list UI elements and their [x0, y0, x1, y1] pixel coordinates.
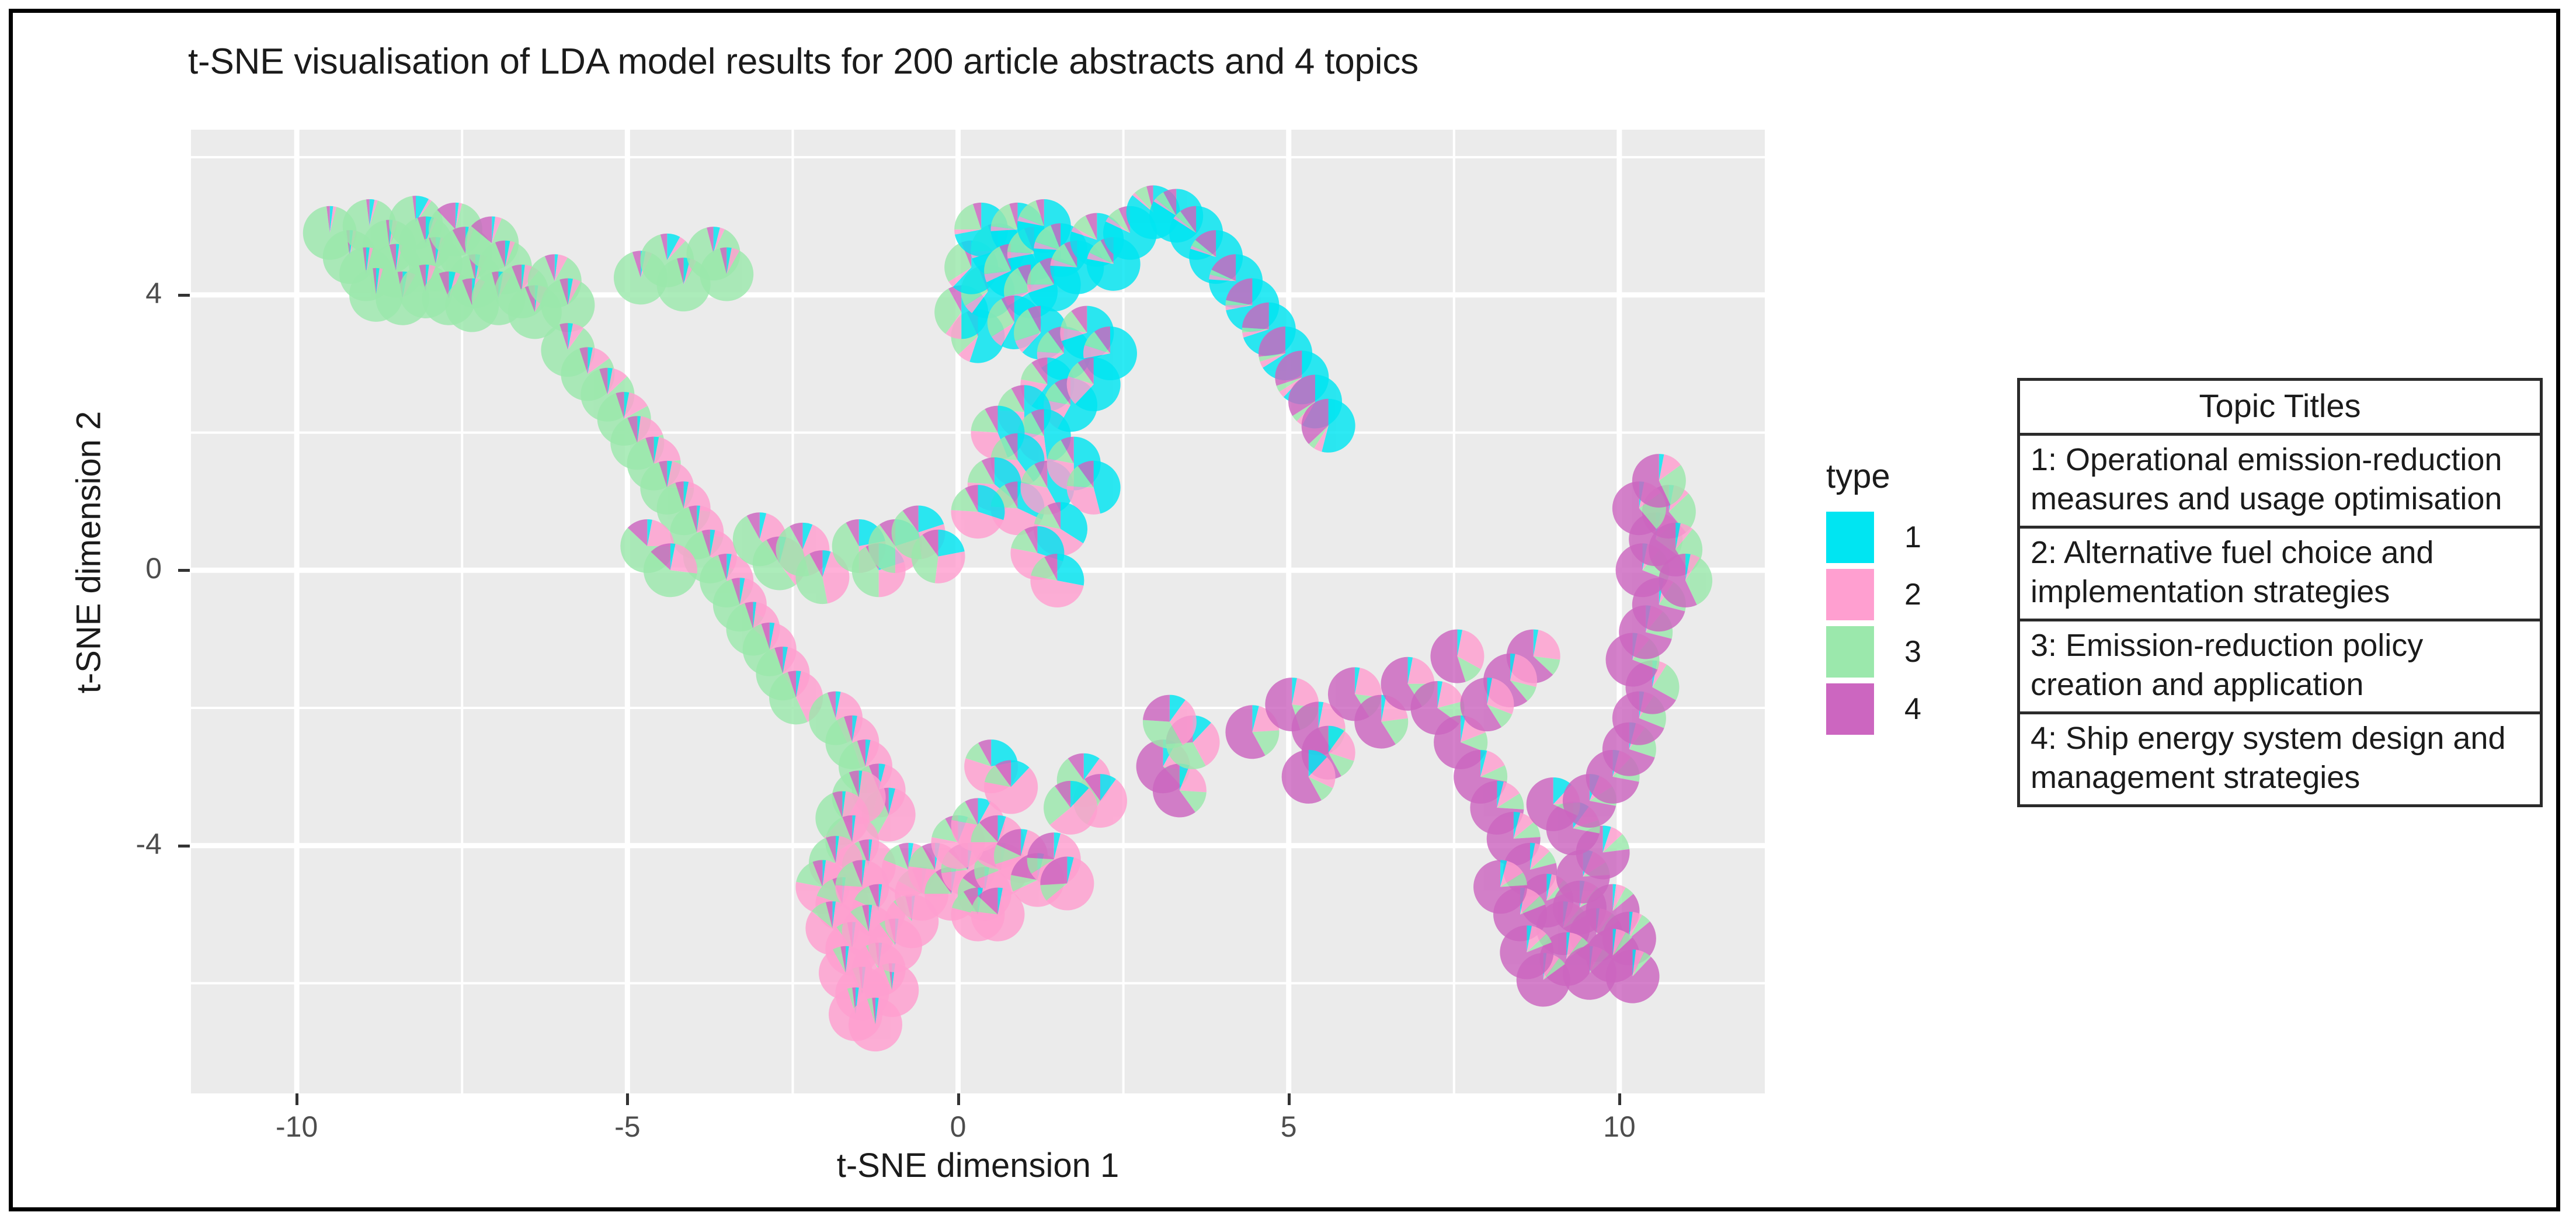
legend-swatch-1 — [1826, 512, 1874, 563]
topic-title-row: 2: Alternative fuel choice and implement… — [2020, 529, 2540, 621]
scatter-pie-point — [1040, 857, 1094, 911]
scatter-pie-point — [951, 485, 1005, 539]
scatter-pie-point — [1460, 678, 1514, 731]
scatter-pie-point — [644, 543, 697, 597]
scatter-pie-point — [1143, 695, 1197, 749]
legend-item-2[interactable]: 2 — [1797, 566, 1990, 623]
topic-title-row: 4: Ship energy system design and managem… — [2020, 714, 2540, 804]
scatter-pie-point — [1044, 781, 1097, 835]
legend-title: type — [1826, 457, 1990, 496]
x-tick-label: 0 — [900, 1110, 1017, 1144]
x-tick-mark — [1618, 1093, 1621, 1105]
legend-items: 1234 — [1797, 509, 1990, 738]
legend-item-4[interactable]: 4 — [1797, 680, 1990, 738]
topic-titles-header: Topic Titles — [2020, 381, 2540, 436]
scatter-pie-point — [1500, 925, 1553, 979]
x-tick-mark — [296, 1093, 298, 1105]
scatter-pie-point — [1302, 399, 1355, 453]
legend-item-1[interactable]: 1 — [1797, 509, 1990, 566]
topic-titles-body: 1: Operational emission-reduction measur… — [2020, 436, 2540, 804]
y-tick-mark — [178, 569, 190, 572]
x-tick-label: 10 — [1561, 1110, 1678, 1144]
legend-key-label: 4 — [1904, 692, 1921, 727]
scatter-pie-point — [1153, 763, 1207, 817]
legend-swatch-3 — [1826, 626, 1874, 678]
legend-key-label: 3 — [1904, 634, 1921, 669]
chart-title: t-SNE visualisation of LDA model results… — [188, 41, 1419, 82]
y-tick-mark — [178, 294, 190, 297]
legend-item-3[interactable]: 3 — [1797, 623, 1990, 680]
x-tick-label: 5 — [1230, 1110, 1347, 1144]
x-tick-mark — [626, 1093, 629, 1105]
topic-title-row: 1: Operational emission-reduction measur… — [2020, 436, 2540, 529]
plot-panel — [191, 130, 1765, 1093]
scatter-pie-point — [984, 760, 1038, 814]
scatter-pie-point — [1030, 554, 1084, 607]
scatter-pie-layer — [191, 130, 1765, 1093]
topic-titles-table: Topic Titles 1: Operational emission-red… — [2017, 378, 2543, 807]
legend: type 1234 — [1797, 457, 1990, 738]
figure-container: t-SNE visualisation of LDA model results… — [9, 9, 2560, 1211]
scatter-pie-point — [1659, 554, 1712, 607]
scatter-pie-point — [912, 530, 965, 584]
scatter-pie-point — [1430, 630, 1484, 683]
scatter-pie-point — [1282, 750, 1336, 804]
topic-title-row: 3: Emission-reduction policy creation an… — [2020, 621, 2540, 714]
x-tick-label: -10 — [238, 1110, 355, 1144]
legend-key-label: 1 — [1904, 520, 1921, 555]
scatter-pie-point — [1632, 454, 1686, 508]
x-tick-mark — [1288, 1093, 1291, 1105]
scatter-pie-point — [1473, 860, 1527, 914]
legend-swatch-4 — [1826, 683, 1874, 735]
x-tick-label: -5 — [569, 1110, 686, 1144]
x-tick-mark — [957, 1093, 960, 1105]
scatter-pie-point — [849, 998, 902, 1051]
legend-key-label: 2 — [1904, 577, 1921, 612]
x-axis-title: t-SNE dimension 1 — [191, 1146, 1765, 1185]
scatter-pie-point — [700, 248, 753, 301]
legend-swatch-2 — [1826, 569, 1874, 620]
scatter-pie-point — [1606, 950, 1660, 1003]
y-axis-title: t-SNE dimension 2 — [69, 144, 109, 961]
plot-area: t-SNE visualisation of LDA model results… — [13, 13, 1823, 1207]
y-tick-mark — [178, 845, 190, 848]
scatter-pie-point — [1067, 357, 1121, 411]
